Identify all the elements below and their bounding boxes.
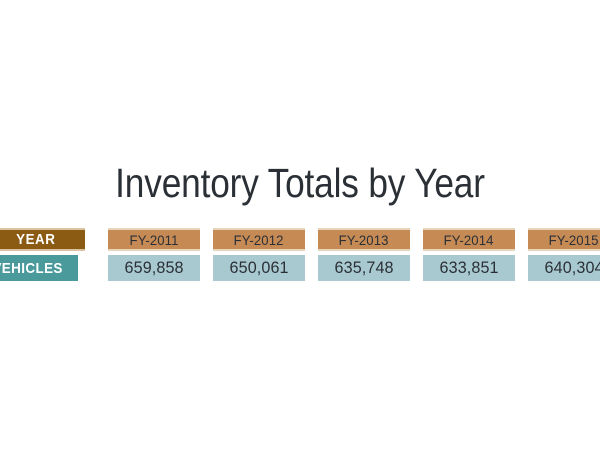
year-cell-label: FY-2012 [234, 232, 284, 248]
vehicles-cell-fy-2011[interactable]: 659,858 [108, 255, 200, 281]
year-cell-fy-2015[interactable]: FY-2015 [528, 228, 600, 251]
year-cell-label: FY-2015 [549, 232, 599, 248]
table-row-year: YEAR FY-2011 FY-2012 FY-2013 FY-2014 FY-… [0, 228, 600, 251]
row-label-year-text: YEAR [16, 232, 55, 248]
year-cell-label: FY-2014 [444, 232, 494, 248]
inventory-table: YEAR FY-2011 FY-2012 FY-2013 FY-2014 FY-… [0, 226, 600, 284]
vehicles-cell-fy-2015[interactable]: 640,304 [528, 255, 600, 281]
year-cell-label: FY-2011 [130, 232, 179, 248]
vehicles-cell-value: 640,304 [544, 258, 600, 278]
year-cell-fy-2012[interactable]: FY-2012 [213, 228, 305, 251]
vehicles-cell-value: 633,851 [439, 258, 498, 278]
infographic-canvas: Inventory Totals by Year YEAR FY-2011 FY… [0, 0, 600, 450]
vehicles-cell-value: 635,748 [334, 258, 393, 278]
vehicles-cell-value: 650,061 [229, 258, 288, 278]
vehicles-cell-fy-2013[interactable]: 635,748 [318, 255, 410, 281]
vehicles-cell-value: 659,858 [124, 258, 183, 278]
page-title: Inventory Totals by Year [42, 160, 558, 206]
vehicles-cell-fy-2012[interactable]: 650,061 [213, 255, 305, 281]
year-cell-label: FY-2013 [339, 232, 389, 248]
vehicles-cell-fy-2014[interactable]: 633,851 [423, 255, 515, 281]
row-label-year: YEAR [0, 228, 85, 251]
row-label-vehicles: VEHICLES [0, 255, 78, 281]
year-cell-fy-2011[interactable]: FY-2011 [108, 228, 200, 251]
year-cell-fy-2013[interactable]: FY-2013 [318, 228, 410, 251]
row-label-vehicles-text: VEHICLES [0, 260, 63, 277]
year-cell-fy-2014[interactable]: FY-2014 [423, 228, 515, 251]
table-row-vehicles: VEHICLES 659,858 650,061 635,748 633,851… [0, 255, 600, 281]
